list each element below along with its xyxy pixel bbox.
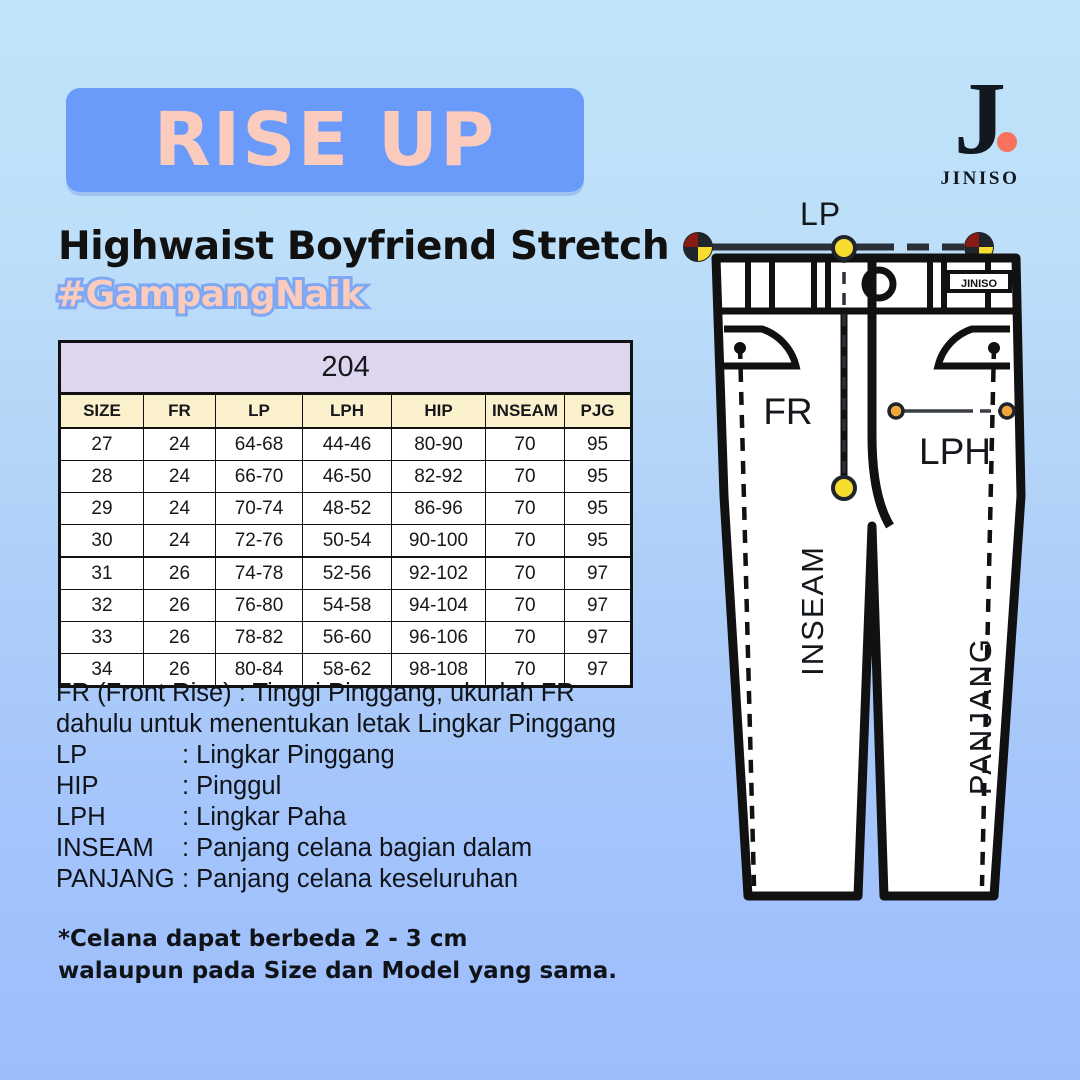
diagram-label-fr: FR — [763, 391, 812, 432]
legend-key: PANJANG — [56, 864, 182, 895]
legend-value: : Panjang celana bagian dalam — [182, 834, 532, 862]
cell-hip: 92-102 — [392, 557, 486, 590]
table-row: 282466-7046-5082-927095 — [60, 461, 632, 493]
diagram-label-inseam: INSEAM — [795, 545, 831, 676]
cell-fr: 26 — [144, 557, 216, 590]
cell-lp: 66-70 — [216, 461, 303, 493]
legend-value: : Lingkar Paha — [182, 803, 346, 831]
cell-fr: 24 — [144, 461, 216, 493]
table-column-header-lp: LP — [216, 394, 303, 429]
cell-pjg: 97 — [565, 590, 632, 622]
cell-lp: 72-76 — [216, 525, 303, 558]
cell-lp: 70-74 — [216, 493, 303, 525]
legend-fr-line-2: dahulu untuk menentukan letak Lingkar Pi… — [56, 709, 716, 740]
lph-pin-right-icon — [1000, 404, 1014, 418]
table-column-header-fr: FR — [144, 394, 216, 429]
cell-hip: 86-96 — [392, 493, 486, 525]
cell-lph: 54-58 — [303, 590, 392, 622]
cell-inseam: 70 — [486, 461, 565, 493]
disclaimer-line-2: walaupun pada Size dan Model yang sama. — [58, 956, 698, 988]
cell-inseam: 70 — [486, 428, 565, 461]
rise-up-badge: RISE UP — [66, 88, 584, 192]
table-column-header-lph: LPH — [303, 394, 392, 429]
legend-key: LP — [56, 740, 182, 771]
table-column-header-pjg: PJG — [565, 394, 632, 429]
cell-fr: 24 — [144, 525, 216, 558]
cell-hip: 94-104 — [392, 590, 486, 622]
table-row: 302472-7650-5490-1007095 — [60, 525, 632, 558]
fr-pin-top-icon — [833, 237, 855, 259]
cell-size: 31 — [60, 557, 144, 590]
cell-size: 28 — [60, 461, 144, 493]
cell-size: 32 — [60, 590, 144, 622]
cell-pjg: 95 — [565, 461, 632, 493]
table-column-header-size: SIZE — [60, 394, 144, 429]
measurement-legend: FR (Front Rise) : Tinggi Pinggang, ukurl… — [56, 678, 716, 895]
legend-key: LPH — [56, 802, 182, 833]
cell-hip: 82-92 — [392, 461, 486, 493]
badge-title: RISE UP — [154, 103, 496, 177]
table-row: 292470-7448-5286-967095 — [60, 493, 632, 525]
legend-key: HIP — [56, 771, 182, 802]
cell-pjg: 97 — [565, 557, 632, 590]
cell-size: 27 — [60, 428, 144, 461]
cell-inseam: 70 — [486, 557, 565, 590]
legend-key: INSEAM — [56, 833, 182, 864]
cell-size: 29 — [60, 493, 144, 525]
lph-pin-left-icon — [889, 404, 903, 418]
cell-inseam: 70 — [486, 622, 565, 654]
cell-pjg: 97 — [565, 622, 632, 654]
cell-size: 30 — [60, 525, 144, 558]
cell-lph: 56-60 — [303, 622, 392, 654]
table-body: 272464-6844-4680-907095282466-7046-5082-… — [60, 428, 632, 687]
table-title-row: 204 — [60, 342, 632, 394]
cell-fr: 24 — [144, 493, 216, 525]
table-header-row: SIZEFRLPLPHHIPINSEAMPJG — [60, 394, 632, 429]
legend-fr-line-1: FR (Front Rise) : Tinggi Pinggang, ukurl… — [56, 678, 716, 709]
table-column-header-inseam: INSEAM — [486, 394, 565, 429]
table-row: 322676-8054-5894-1047097 — [60, 590, 632, 622]
legend-value: : Panjang celana keseluruhan — [182, 865, 518, 893]
jeans-technical-diagram: JINISO FR LPH — [676, 196, 1080, 912]
cell-lp: 74-78 — [216, 557, 303, 590]
svg-text:JINISO: JINISO — [961, 278, 998, 290]
legend-value: : Lingkar Pinggang — [182, 741, 395, 769]
cell-hip: 80-90 — [392, 428, 486, 461]
cell-pjg: 95 — [565, 493, 632, 525]
cell-size: 33 — [60, 622, 144, 654]
legend-item-panjang: PANJANG: Panjang celana keseluruhan — [56, 864, 716, 895]
legend-item-lp: LP: Lingkar Pinggang — [56, 740, 716, 771]
cell-fr: 24 — [144, 428, 216, 461]
legend-item-hip: HIP: Pinggul — [56, 771, 716, 802]
cell-inseam: 70 — [486, 590, 565, 622]
cell-pjg: 95 — [565, 525, 632, 558]
logo-j-mark: J — [934, 73, 1026, 165]
brand-logo: J JINISO — [917, 62, 1043, 190]
logo-dot-icon — [997, 132, 1017, 152]
cell-lp: 64-68 — [216, 428, 303, 461]
table-row: 332678-8256-6096-1067097 — [60, 622, 632, 654]
size-chart-table: 204 SIZEFRLPLPHHIPINSEAMPJG 272464-6844-… — [58, 340, 633, 688]
model-code: 204 — [60, 342, 632, 394]
campaign-hashtag: #GampangNaik — [56, 274, 364, 315]
lp-pin-left-icon — [683, 232, 713, 262]
cell-inseam: 70 — [486, 525, 565, 558]
legend-value: : Pinggul — [182, 772, 281, 800]
cell-lph: 44-46 — [303, 428, 392, 461]
cell-lph: 46-50 — [303, 461, 392, 493]
cell-hip: 96-106 — [392, 622, 486, 654]
waistband-brand-tag: JINISO — [948, 272, 1010, 291]
disclaimer-note: *Celana dapat berbeda 2 - 3 cm walaupun … — [58, 924, 698, 987]
cell-lph: 50-54 — [303, 525, 392, 558]
table-row: 312674-7852-5692-1027097 — [60, 557, 632, 590]
legend-item-inseam: INSEAM: Panjang celana bagian dalam — [56, 833, 716, 864]
disclaimer-line-1: *Celana dapat berbeda 2 - 3 cm — [58, 924, 698, 956]
logo-j-letter: J — [954, 74, 1006, 163]
legend-item-lph: LPH: Lingkar Paha — [56, 802, 716, 833]
cell-lp: 76-80 — [216, 590, 303, 622]
table-column-header-hip: HIP — [392, 394, 486, 429]
cell-pjg: 95 — [565, 428, 632, 461]
cell-lp: 78-82 — [216, 622, 303, 654]
diagram-label-lph: LPH — [919, 431, 991, 472]
fr-pin-bottom-icon — [833, 477, 855, 499]
table-row: 272464-6844-4680-907095 — [60, 428, 632, 461]
cell-inseam: 70 — [486, 493, 565, 525]
product-subtitle: Highwaist Boyfriend Stretch — [58, 224, 718, 269]
cell-lph: 48-52 — [303, 493, 392, 525]
diagram-label-panjang: PANJANG — [963, 637, 999, 795]
cell-fr: 26 — [144, 590, 216, 622]
cell-fr: 26 — [144, 622, 216, 654]
cell-hip: 90-100 — [392, 525, 486, 558]
cell-lph: 52-56 — [303, 557, 392, 590]
